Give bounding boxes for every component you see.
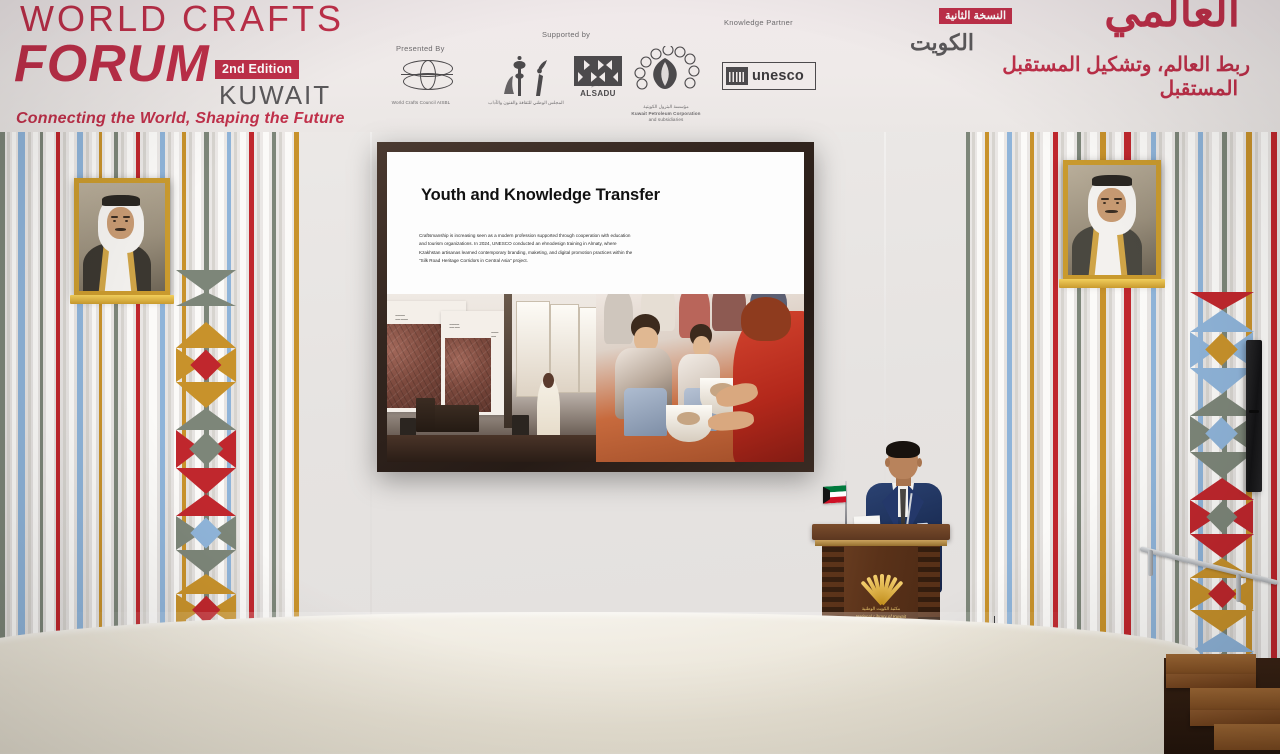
logo-line-world-crafts: WORLD CRAFTS bbox=[20, 0, 344, 40]
logo-tagline-arabic-2: المستقبل bbox=[1160, 76, 1238, 101]
kuwait-towers-icon bbox=[496, 54, 556, 102]
sponsor-caption-wcc: World Crafts Council AISBL bbox=[390, 100, 452, 106]
stage-stairs bbox=[1132, 630, 1280, 754]
handrail-post bbox=[1148, 550, 1153, 576]
logo-location-arabic: الكويت bbox=[910, 30, 974, 56]
stage-floor bbox=[0, 612, 1200, 754]
portrait-figure bbox=[79, 183, 165, 291]
slide-photo-row: ▬▬▬▬▬▬ ▬▬▬ ▬▬▬▬▬▬ ▬▬ ▬▬▬▬▬ bbox=[387, 294, 804, 462]
sponsor-caption-nccal: المجلس الوطني للثقافة والفنون والآداب bbox=[488, 100, 564, 106]
world-crafts-forum-logo: WORLD CRAFTS FORUM 2nd Edition KUWAIT Co… bbox=[8, 2, 338, 130]
logo-tagline-arabic: ربط العالم، وتشكيل المستقبل bbox=[1002, 52, 1250, 77]
slide-body-text: Craftsmanship is increasing seen as a mo… bbox=[419, 232, 634, 266]
projection-screen-frame: Youth and Knowledge Transfer Craftsmansh… bbox=[377, 142, 814, 472]
fan-book-icon bbox=[866, 570, 896, 604]
sponsor-caption-kpc-sub: and subsidiaries bbox=[620, 117, 712, 123]
portrait-figure bbox=[1068, 165, 1156, 275]
portrait-crown-prince bbox=[1063, 160, 1161, 280]
kpc-droplet-icon bbox=[624, 46, 706, 108]
line-array-speaker-right bbox=[1246, 340, 1262, 492]
world-crafts-forum-logo-arabic: العالمي النسخة الثانية الكويت ربط العالم… bbox=[894, 0, 1274, 132]
logo-line-forum: FORUM bbox=[14, 38, 210, 90]
exhibition-hall-photo: ▬▬▬▬▬▬ ▬▬▬ ▬▬▬▬▬▬ ▬▬ ▬▬▬▬▬ bbox=[387, 294, 596, 462]
logo-location-kuwait: KUWAIT bbox=[219, 80, 331, 111]
unesco-temple-glyph bbox=[726, 67, 748, 85]
screenshot-root: WORLD CRAFTS FORUM 2nd Edition KUWAIT Co… bbox=[0, 0, 1280, 754]
sponsor-caption-alsadu: ALSADU bbox=[572, 89, 624, 98]
logo-arabic-main: العالمي bbox=[1104, 0, 1240, 37]
projection-screen[interactable]: Youth and Knowledge Transfer Craftsmansh… bbox=[387, 152, 804, 462]
slide-title: Youth and Knowledge Transfer bbox=[421, 186, 660, 205]
edition-badge: 2nd Edition bbox=[215, 60, 299, 79]
unesco-wordmark: unesco bbox=[752, 68, 804, 84]
world-crafts-council-logo-icon bbox=[400, 58, 454, 98]
unesco-temple-icon: unesco bbox=[722, 62, 816, 90]
pottery-workshop-photo bbox=[596, 294, 805, 462]
sponsor-caption-kpc: Kuwait Petroleum Corporation bbox=[620, 111, 712, 117]
sponsor-label-knowledge-partner: Knowledge Partner bbox=[724, 18, 793, 27]
handrail-post bbox=[1236, 574, 1241, 602]
sponsor-caption-kpc-ar: مؤسسة البترول الكويتية bbox=[620, 104, 712, 110]
sponsor-caption-alsadu-ar: السدو bbox=[572, 82, 624, 88]
sponsor-label-presented-by: Presented By bbox=[396, 44, 445, 53]
edition-badge-arabic: النسخة الثانية bbox=[939, 8, 1012, 24]
sponsor-strip: Presented By Supported by Knowledge Part… bbox=[392, 18, 822, 130]
logo-tagline: Connecting the World, Shaping the Future bbox=[16, 110, 345, 128]
kuwait-flag-icon bbox=[822, 481, 852, 527]
portrait-emir bbox=[74, 178, 170, 296]
sponsor-label-supported-by: Supported by bbox=[542, 30, 590, 39]
